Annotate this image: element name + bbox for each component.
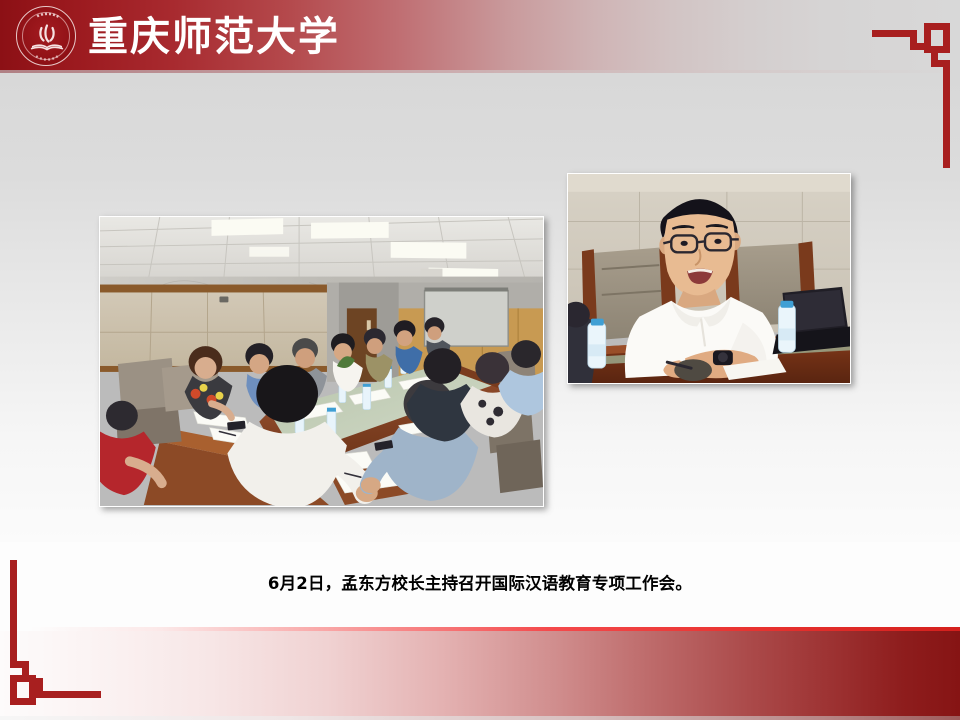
footer-baseline xyxy=(0,716,960,720)
header-underline xyxy=(0,70,960,73)
university-wordmark: 重庆师范大学 xyxy=(88,8,338,62)
meeting-room-image xyxy=(100,217,543,506)
university-seal-icon xyxy=(16,6,76,66)
corner-ornament-top-right-icon xyxy=(872,8,960,168)
university-name-calligraphy: 重庆师范大学 xyxy=(88,8,338,62)
presentation-slide: 重庆师范大学 xyxy=(0,0,960,720)
corner-ornament-bottom-left-icon xyxy=(10,560,110,720)
wristwatch xyxy=(713,350,733,365)
footer-gradient-band xyxy=(0,631,960,716)
speaker-photo[interactable] xyxy=(567,173,851,384)
university-name-text: 重庆师范大学 xyxy=(88,14,338,60)
meeting-room-photo[interactable] xyxy=(99,216,544,507)
speaker-image xyxy=(568,174,850,383)
slide-caption: 6月2日，孟东方校长主持召开国际汉语教育专项工作会。 xyxy=(0,570,960,594)
seal-emblem-icon xyxy=(17,7,77,67)
computer-mouse xyxy=(674,359,712,381)
